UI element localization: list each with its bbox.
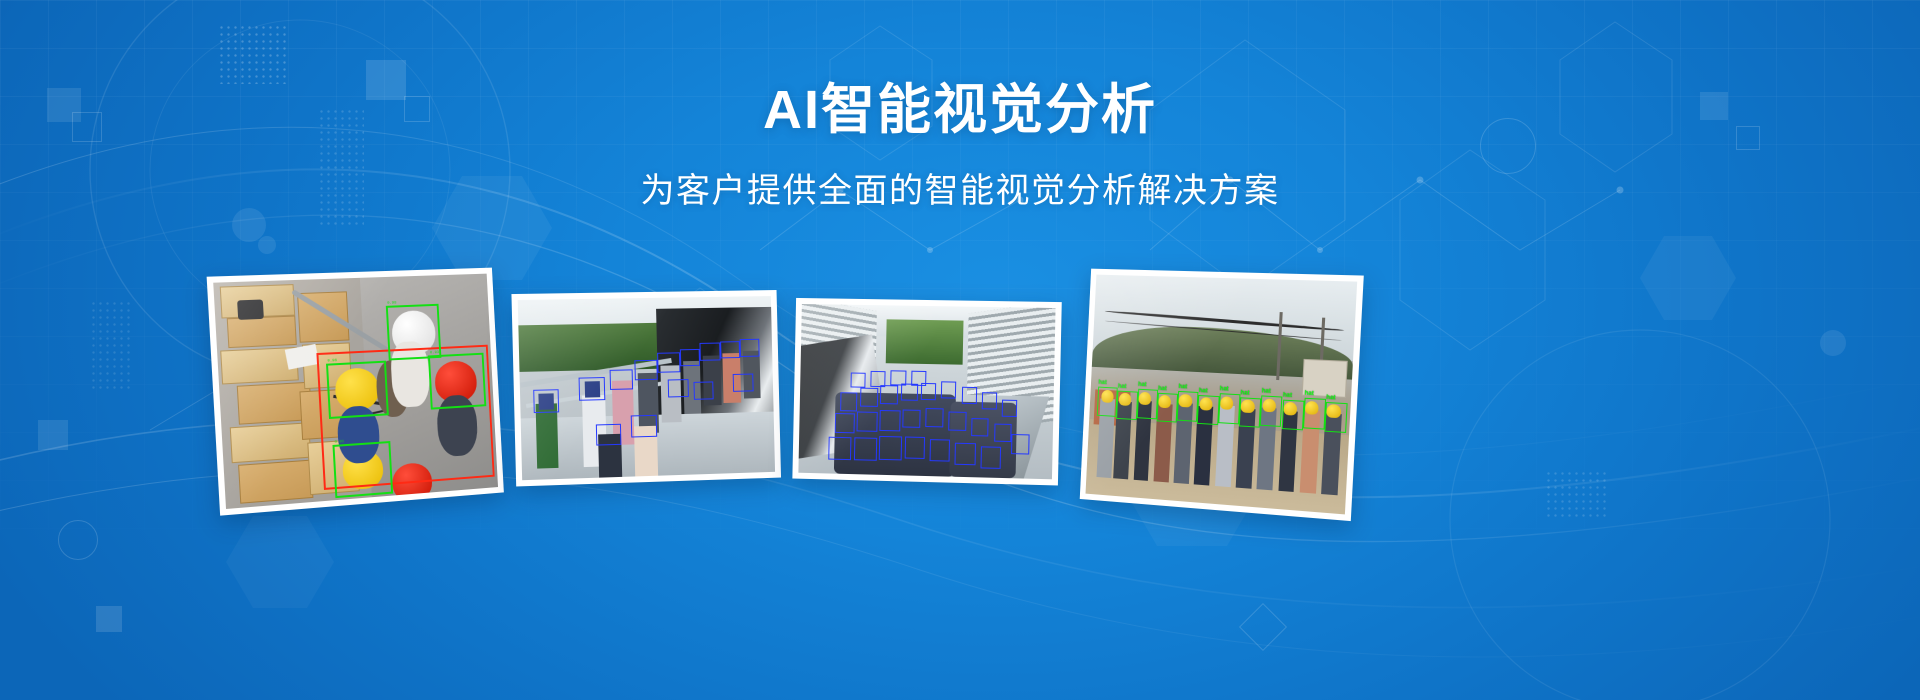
detection-label: 0.98 — [387, 301, 397, 305]
photo-gallery-strip: 0.98 0.96 0.93 0.91 — [0, 252, 1920, 532]
detection-box-person — [891, 370, 906, 386]
detection-box-person — [955, 443, 976, 466]
detection-box-person — [948, 412, 966, 431]
scene-outdoor-group-hat: hat hat hat hat hat hat hat — [1086, 275, 1358, 515]
detection-box-person — [657, 352, 680, 372]
gallery-card-footbridge-crowd-detection[interactable] — [511, 290, 781, 486]
gallery-card-station-crowd-detection[interactable] — [792, 298, 1061, 486]
detection-box-person — [994, 423, 1012, 442]
detection-box-hat: hat — [1116, 390, 1137, 420]
detection-box-helmet: 0.91 — [333, 441, 393, 498]
detection-box-person — [961, 387, 977, 404]
detection-label: hat — [1262, 389, 1271, 396]
accent-circle-1 — [232, 208, 266, 242]
detection-box-person — [879, 436, 902, 460]
detection-box-person — [904, 436, 925, 459]
accent-square-6 — [1239, 603, 1287, 651]
detection-box-person — [631, 415, 657, 437]
detection-label: 0.93 — [430, 351, 439, 355]
gallery-card-outdoor-hat-detection[interactable]: hat hat hat hat hat hat hat — [1080, 269, 1364, 521]
detection-box-person — [902, 409, 920, 428]
dot-matrix-1 — [218, 24, 288, 84]
detection-box-helmet: 0.93 — [428, 353, 486, 410]
detection-label: hat — [1138, 382, 1147, 388]
page-title: AI智能视觉分析 — [0, 78, 1920, 143]
detection-box-hat: hat — [1097, 387, 1118, 417]
detection-label: 0.91 — [335, 440, 345, 445]
detection-box-person — [740, 338, 760, 356]
detection-box-person — [982, 392, 998, 409]
detection-box-person — [880, 385, 898, 404]
carton — [230, 422, 311, 463]
scene-warehouse-overhead: 0.98 0.96 0.93 0.91 — [213, 274, 498, 509]
detection-box-person — [925, 408, 943, 427]
detection-box-hat: hat — [1303, 398, 1326, 429]
detection-box-person — [860, 388, 878, 407]
page-subtitle: 为客户提供全面的智能视觉分析解决方案 — [0, 163, 1920, 212]
detection-label: hat — [1240, 390, 1249, 397]
detection-label: hat — [1199, 388, 1208, 394]
gallery-card-warehouse-helmet-detection[interactable]: 0.98 0.96 0.93 0.91 — [207, 268, 504, 516]
detection-box-person — [870, 371, 885, 387]
detection-label: hat — [1283, 392, 1292, 399]
detection-box-person — [980, 447, 1001, 470]
person — [536, 404, 558, 469]
detection-label: 0.96 — [327, 359, 337, 364]
detection-box-hat: hat — [1197, 395, 1219, 425]
detection-box-person — [911, 370, 927, 386]
carton — [227, 316, 297, 348]
detection-box-person — [971, 418, 989, 437]
detection-box-person — [840, 393, 858, 412]
detection-label: hat — [1158, 385, 1167, 391]
detection-box-person — [1002, 399, 1018, 416]
detection-box-person — [930, 439, 951, 462]
tree-line — [886, 319, 963, 365]
detection-label: hat — [1118, 383, 1127, 389]
detection-box-person — [533, 389, 559, 413]
scene-station-escalator-crowd — [798, 304, 1055, 479]
detection-box-hat: hat — [1156, 392, 1178, 422]
detection-box-person — [720, 341, 740, 359]
detection-box-hat: hat — [1281, 399, 1304, 430]
detection-box-person — [635, 360, 658, 380]
detection-box-person — [579, 377, 605, 401]
detection-box-hat: hat — [1177, 391, 1199, 421]
hero-text-block: AI智能视觉分析 为客户提供全面的智能视觉分析解决方案 — [0, 78, 1920, 212]
detection-box-person — [880, 410, 901, 431]
detection-box-person — [829, 436, 852, 460]
detection-box-hat: hat — [1218, 393, 1240, 424]
detection-box-person — [733, 374, 753, 392]
detection-box-hat: hat — [1136, 389, 1158, 419]
detection-box-person — [834, 413, 855, 434]
detection-box-hat: hat — [1260, 396, 1283, 427]
detection-box-person — [609, 370, 632, 390]
detection-label: hat — [1326, 394, 1336, 401]
detection-box-person — [668, 379, 689, 397]
detection-box-person — [854, 437, 877, 461]
detection-box-person — [850, 372, 865, 388]
detection-box-person — [900, 384, 918, 401]
detection-box-hat: hat — [1324, 401, 1348, 432]
detection-box-person — [857, 412, 878, 433]
detection-label: hat — [1304, 391, 1313, 398]
detection-box-person — [941, 381, 957, 398]
detection-box-person — [1011, 434, 1029, 455]
equipment — [237, 299, 264, 320]
detection-box-person — [693, 382, 713, 400]
detection-box-hat: hat — [1239, 397, 1262, 428]
detection-label: hat — [1178, 384, 1187, 390]
detection-box-helmet: 0.96 — [326, 360, 389, 418]
detection-box-person — [700, 343, 720, 361]
detection-label: hat — [1098, 380, 1107, 386]
detection-box-person — [680, 349, 700, 367]
accent-square-9 — [96, 606, 122, 632]
detection-box-person — [595, 423, 621, 445]
ai-vision-hero-banner: AI智能视觉分析 为客户提供全面的智能视觉分析解决方案 — [0, 0, 1920, 700]
carton — [238, 460, 314, 504]
detection-label: hat — [1220, 386, 1229, 392]
scene-footbridge-crowd — [518, 296, 775, 480]
